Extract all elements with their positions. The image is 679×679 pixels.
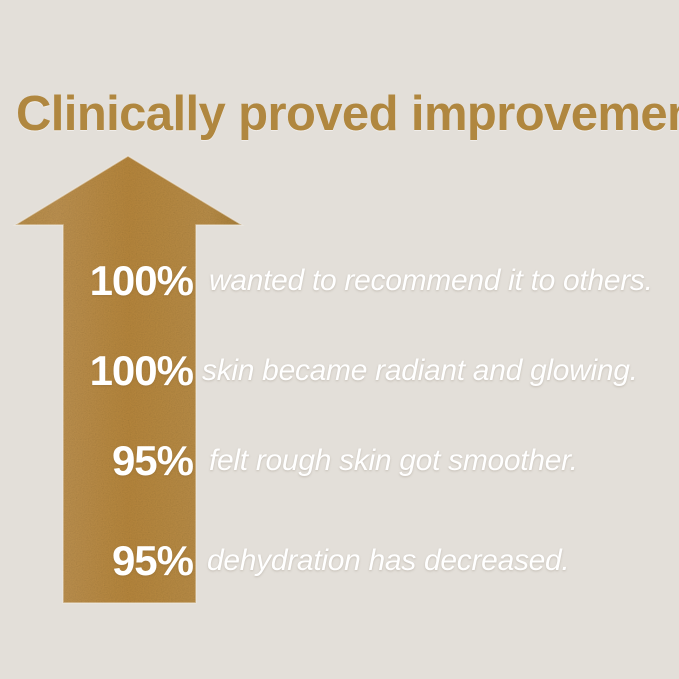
page-title: Clinically proved improvement: [16, 90, 664, 139]
stat-row: 95% dehydration has decreased.: [0, 532, 679, 590]
stat-row: 100% wanted to recommend it to others.: [0, 252, 679, 310]
stat-row: 100% skin became radiant and glowing.: [0, 342, 679, 400]
stat-description: felt rough skin got smoother.: [209, 446, 578, 476]
stat-description: wanted to recommend it to others.: [209, 266, 653, 296]
stat-description: skin became radiant and glowing.: [202, 356, 638, 386]
stat-percent: 100%: [0, 350, 193, 392]
stat-description: dehydration has decreased.: [207, 546, 569, 576]
stat-row: 95% felt rough skin got smoother.: [0, 432, 679, 490]
stat-percent: 95%: [0, 540, 193, 582]
stat-percent: 95%: [0, 440, 193, 482]
stat-percent: 100%: [0, 260, 193, 302]
infographic-poster: Clinically proved improvement 100% wante…: [0, 0, 679, 679]
